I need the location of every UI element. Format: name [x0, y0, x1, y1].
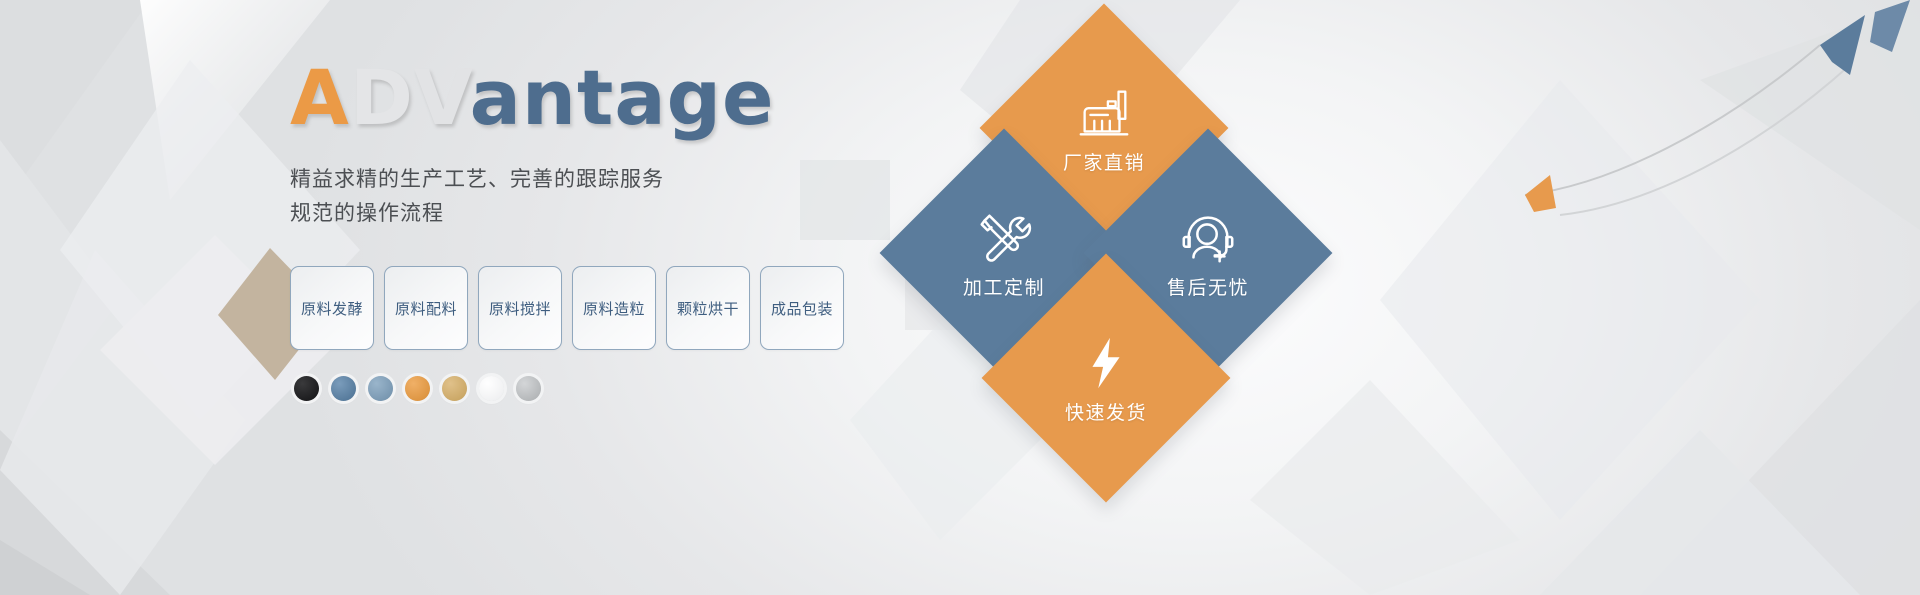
- advantage-label: 快速发货: [1065, 398, 1147, 425]
- step-label: 成品包装: [771, 298, 833, 319]
- swatch-light-blue[interactable]: [368, 376, 393, 401]
- factory-icon: [1073, 82, 1135, 144]
- swatch-gray[interactable]: [516, 376, 541, 401]
- swatch-orange[interactable]: [405, 376, 430, 401]
- title-letter-d: D: [350, 53, 414, 142]
- step-raw-batching[interactable]: 原料配料: [384, 266, 468, 350]
- swatch-tan[interactable]: [442, 376, 467, 401]
- advantage-diamond-cluster: 厂家直销 加工定制: [880, 0, 1920, 595]
- headset-icon: [1177, 207, 1239, 269]
- step-finished-packaging[interactable]: 成品包装: [760, 266, 844, 350]
- subtitle-line-1: 精益求精的生产工艺、完善的跟踪服务: [290, 162, 910, 196]
- title-letter-a: A: [290, 53, 350, 142]
- banner-subtitle: 精益求精的生产工艺、完善的跟踪服务 规范的操作流程: [290, 162, 910, 230]
- step-raw-granulation[interactable]: 原料造粒: [572, 266, 656, 350]
- step-label: 原料造粒: [583, 298, 645, 319]
- process-steps-list: 原料发酵 原料配料 原料搅拌 原料造粒 颗粒烘干 成品包装: [290, 266, 910, 350]
- swatch-black[interactable]: [294, 376, 319, 401]
- lightning-icon: [1075, 332, 1137, 394]
- title-rest: antage: [470, 53, 775, 142]
- banner-text-block: ADVantage 精益求精的生产工艺、完善的跟踪服务 规范的操作流程 原料发酵…: [290, 60, 910, 401]
- tools-icon: [973, 207, 1035, 269]
- step-raw-fermentation[interactable]: 原料发酵: [290, 266, 374, 350]
- subtitle-line-2: 规范的操作流程: [290, 196, 910, 230]
- step-label: 颗粒烘干: [677, 298, 739, 319]
- swatch-white[interactable]: [479, 376, 504, 401]
- step-label: 原料搅拌: [489, 298, 551, 319]
- advantage-banner: ADVantage 精益求精的生产工艺、完善的跟踪服务 规范的操作流程 原料发酵…: [0, 0, 1920, 595]
- step-granule-drying[interactable]: 颗粒烘干: [666, 266, 750, 350]
- swatch-steel-blue[interactable]: [331, 376, 356, 401]
- color-swatch-list: [290, 376, 910, 401]
- step-label: 原料发酵: [301, 298, 363, 319]
- advantage-fast-shipping[interactable]: 快速发货: [982, 254, 1231, 503]
- page-title: ADVantage: [290, 60, 910, 136]
- title-letter-v: V: [414, 53, 470, 142]
- step-raw-mixing[interactable]: 原料搅拌: [478, 266, 562, 350]
- step-label: 原料配料: [395, 298, 457, 319]
